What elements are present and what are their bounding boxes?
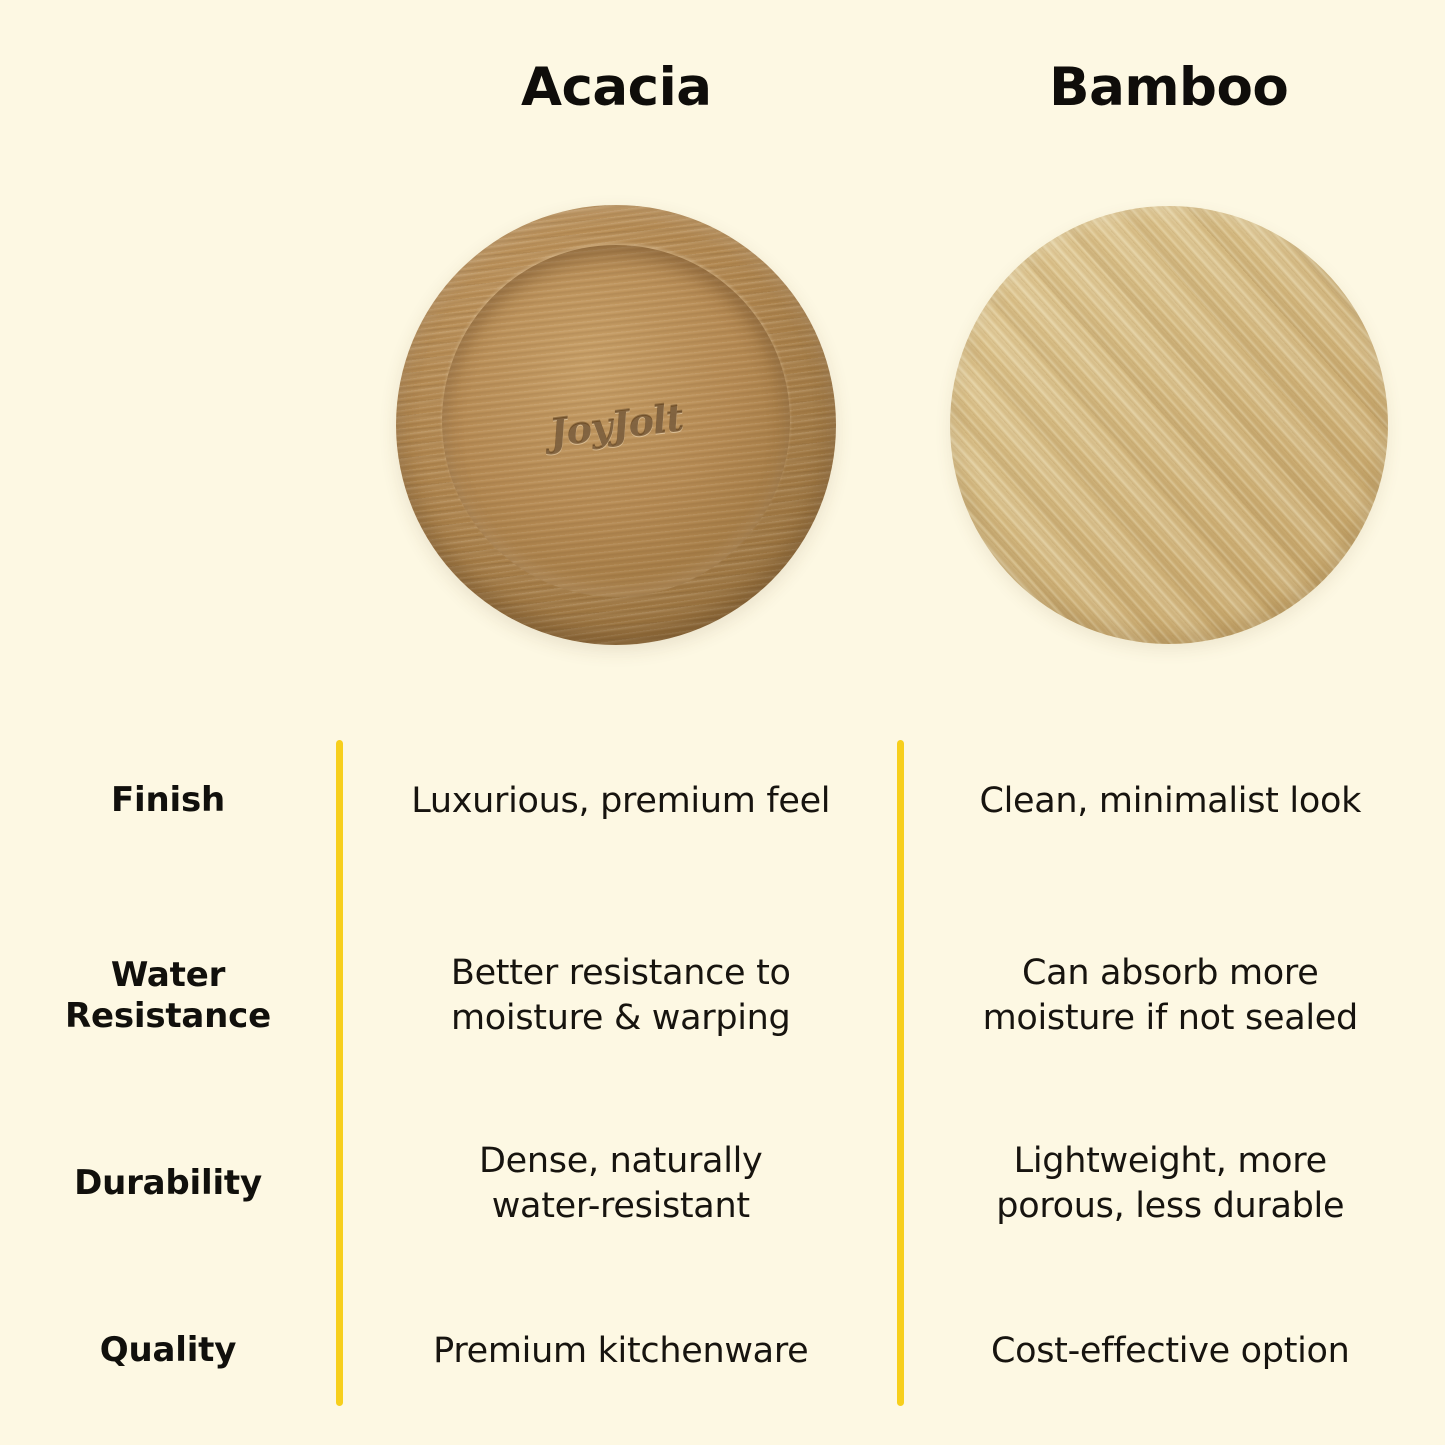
spec-value-cell-quality-bamboo: Cost-effective option xyxy=(896,1329,1445,1374)
spec-comparison-table: Finish Luxurious, premium feel Clean, mi… xyxy=(0,706,1445,1406)
table-row: Quality Premium kitchenware Cost-effecti… xyxy=(0,1271,1445,1431)
product-cell-acacia: JoyJolt xyxy=(340,175,893,675)
column-title-bamboo: Bamboo xyxy=(1049,61,1288,114)
product-spacer xyxy=(0,175,340,675)
bamboo-plate-body xyxy=(950,206,1388,644)
spec-label-cell-water-resistance: Water Resistance xyxy=(0,955,336,1038)
table-row: Finish Luxurious, premium feel Clean, mi… xyxy=(0,706,1445,896)
spec-value-finish-bamboo: Clean, minimalist look xyxy=(979,779,1361,824)
column-title-acacia: Acacia xyxy=(521,61,712,114)
spec-value-quality-bamboo: Cost-effective option xyxy=(991,1329,1350,1374)
column-divider-right xyxy=(897,740,904,1406)
column-header-row: Acacia Bamboo xyxy=(0,52,1445,122)
spec-label-cell-quality: Quality xyxy=(0,1330,336,1371)
spec-value-cell-finish-bamboo: Clean, minimalist look xyxy=(896,779,1445,824)
bamboo-plate-image xyxy=(950,206,1388,644)
spec-label-finish: Finish xyxy=(111,780,225,821)
table-row: Water Resistance Better resistance to mo… xyxy=(0,896,1445,1096)
spec-label-cell-durability: Durability xyxy=(0,1163,336,1204)
column-divider-left xyxy=(336,740,343,1406)
spec-value-finish-acacia: Luxurious, premium feel xyxy=(411,779,830,824)
spec-value-water-resistance-bamboo: Can absorb more moisture if not sealed xyxy=(983,951,1358,1041)
spec-value-cell-water-resistance-acacia: Better resistance to moisture & warping xyxy=(336,951,896,1041)
spec-label-quality: Quality xyxy=(100,1330,236,1371)
acacia-plate-well xyxy=(442,245,790,597)
spec-value-water-resistance-acacia: Better resistance to moisture & warping xyxy=(451,951,791,1041)
product-images-row: JoyJolt xyxy=(0,175,1445,675)
acacia-plate-image: JoyJolt xyxy=(396,205,836,645)
column-header-bamboo: Bamboo xyxy=(893,52,1445,122)
spec-value-quality-acacia: Premium kitchenware xyxy=(433,1329,808,1374)
spec-label-cell-finish: Finish xyxy=(0,780,336,821)
product-cell-bamboo xyxy=(893,175,1445,675)
spec-value-cell-durability-acacia: Dense, naturally water-resistant xyxy=(336,1139,896,1229)
spec-value-durability-acacia: Dense, naturally water-resistant xyxy=(479,1139,762,1229)
spec-value-cell-durability-bamboo: Lightweight, more porous, less durable xyxy=(896,1139,1445,1229)
spec-value-durability-bamboo: Lightweight, more porous, less durable xyxy=(996,1139,1344,1229)
spec-value-cell-quality-acacia: Premium kitchenware xyxy=(336,1329,896,1374)
table-row: Durability Dense, naturally water-resist… xyxy=(0,1096,1445,1271)
spec-value-cell-finish-acacia: Luxurious, premium feel xyxy=(336,779,896,824)
product-comparison-sheet: Acacia Bamboo JoyJolt xyxy=(0,0,1445,1445)
spec-label-water-resistance: Water Resistance xyxy=(65,955,271,1038)
spec-label-durability: Durability xyxy=(74,1163,262,1204)
column-header-acacia: Acacia xyxy=(340,52,893,122)
header-spacer xyxy=(0,52,340,122)
spec-value-cell-water-resistance-bamboo: Can absorb more moisture if not sealed xyxy=(896,951,1445,1041)
